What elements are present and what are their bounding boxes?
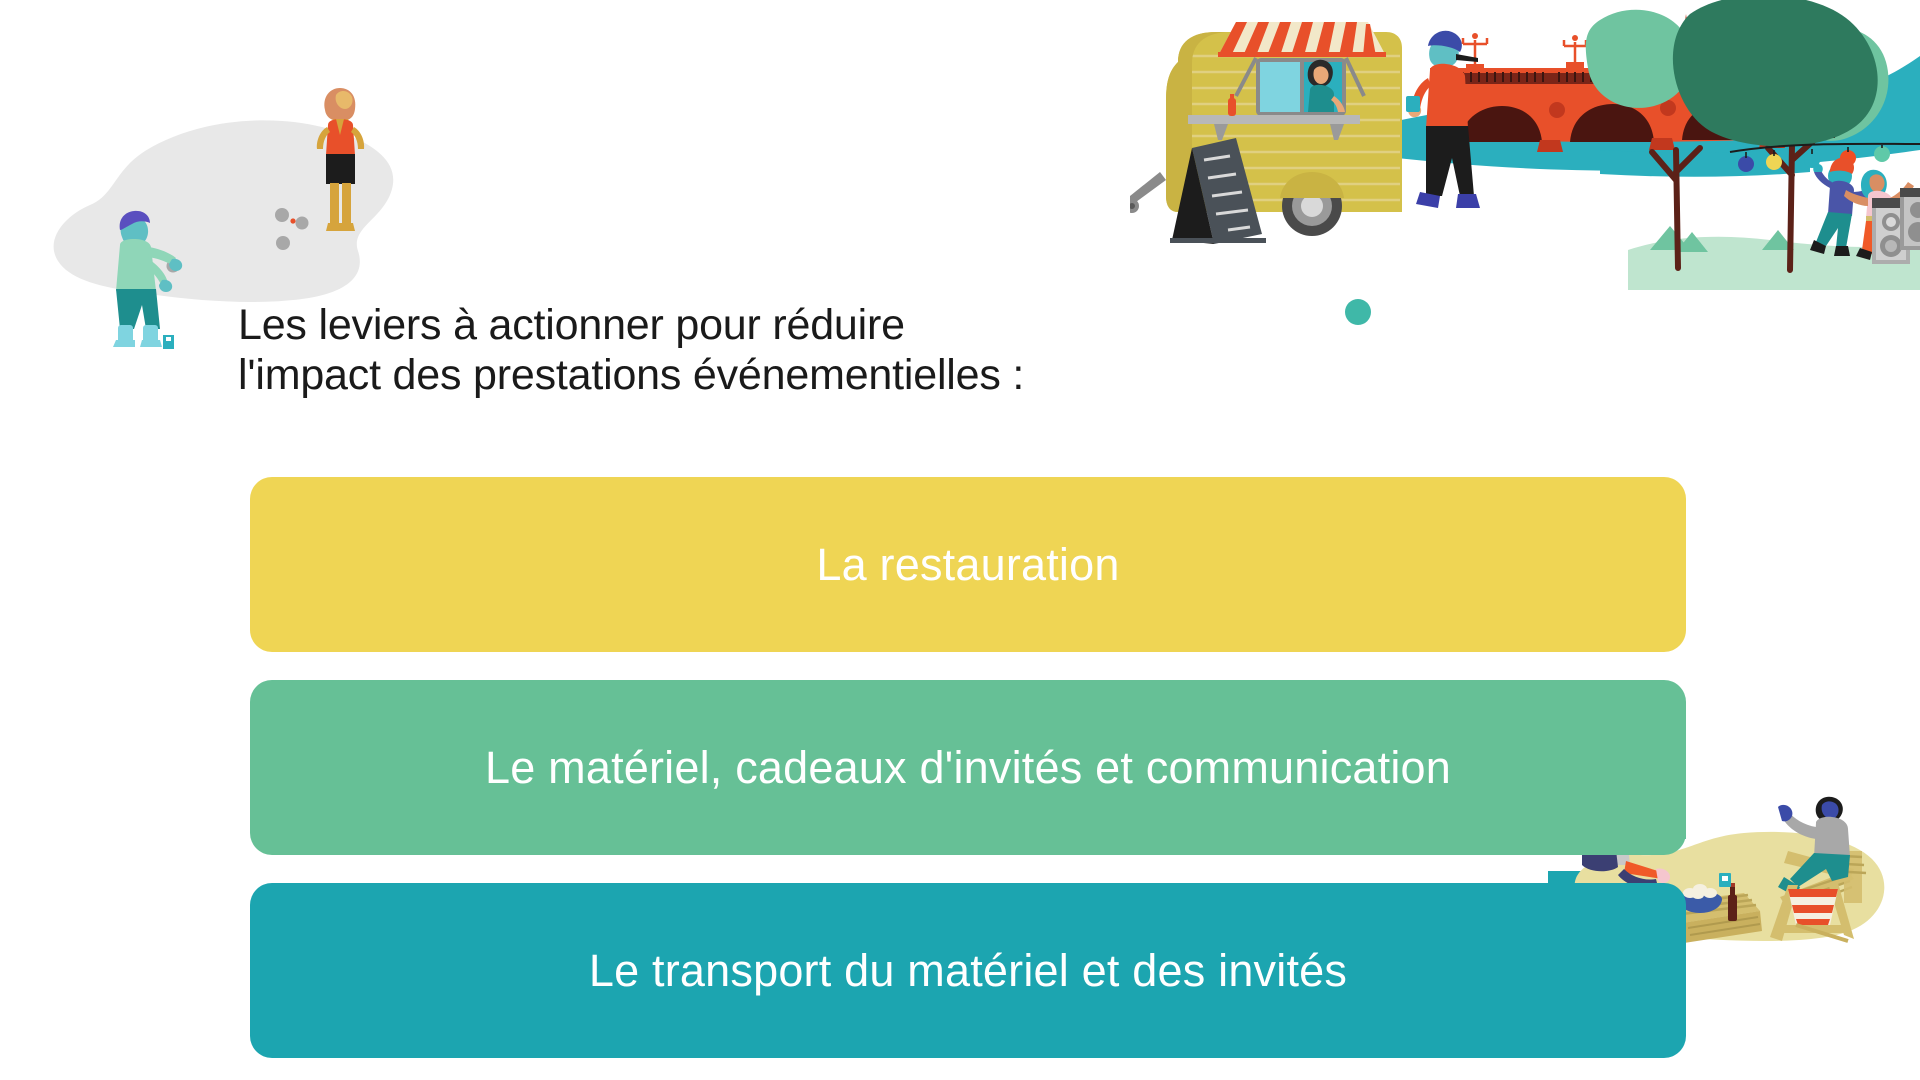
lever-bar-materiel[interactable]: Le matériel, cadeaux d'invités et commun… <box>250 680 1686 855</box>
page-title: Les leviers à actionner pour réduire l'i… <box>238 300 1238 401</box>
lever-bar-label: Le transport du matériel et des invités <box>589 945 1347 997</box>
lever-bar-label: La restauration <box>816 539 1119 591</box>
lever-bar-label: Le matériel, cadeaux d'invités et commun… <box>485 742 1451 794</box>
slide-canvas: Les leviers à actionner pour réduire l'i… <box>0 0 1920 1080</box>
lever-bar-restauration[interactable]: La restauration <box>250 477 1686 652</box>
event-scene-illustration <box>1130 0 1920 380</box>
levers-list: La restauration Le matériel, cadeaux d'i… <box>250 477 1686 1058</box>
title-line-1: Les leviers à actionner pour réduire <box>238 300 1238 350</box>
lever-bar-transport[interactable]: Le transport du matériel et des invités <box>250 883 1686 1058</box>
title-line-2: l'impact des prestations événementielles… <box>238 350 1238 400</box>
food-truck-group <box>1130 22 1480 244</box>
